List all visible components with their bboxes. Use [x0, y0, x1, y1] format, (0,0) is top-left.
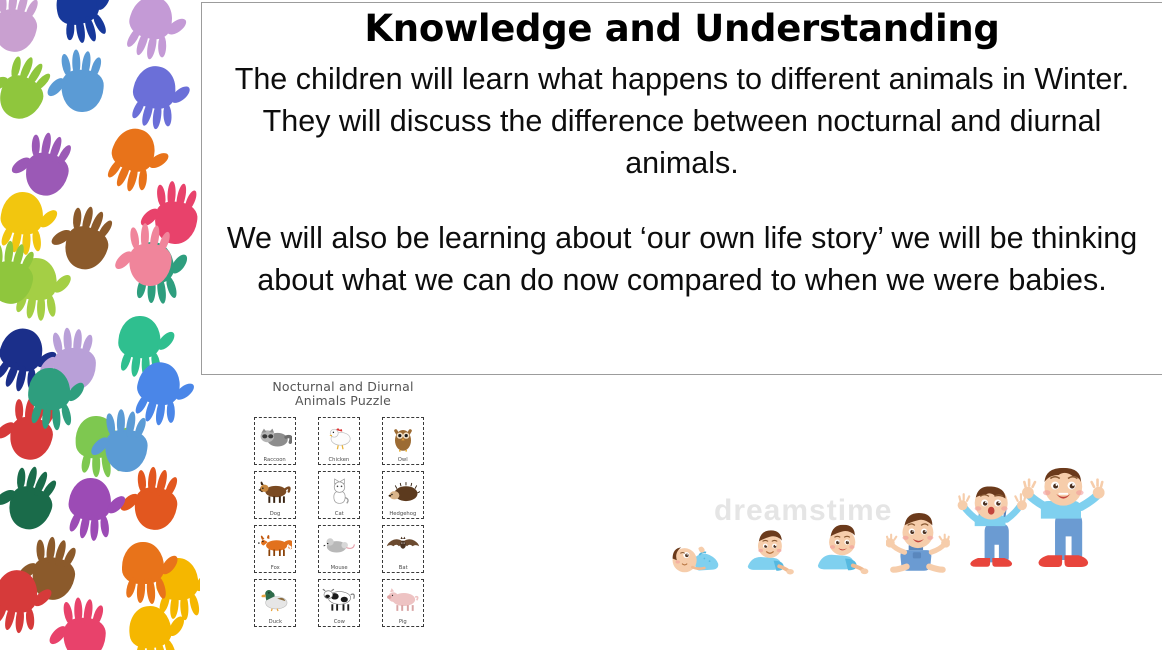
puzzle-card-grid: RaccoonChickenOwlDogCatHedgehogFoxMouseB… — [254, 417, 443, 627]
raccoon-icon — [255, 418, 295, 458]
puzzle-card-label: Owl — [398, 458, 408, 463]
puzzle-card-cat: Cat — [318, 471, 360, 519]
puzzle-card-label: Chicken — [329, 458, 350, 463]
paragraph-knowledge-winter-animals: The children will learn what happens to … — [202, 58, 1162, 184]
puzzle-card-label: Mouse — [330, 566, 347, 571]
handprint — [49, 42, 116, 120]
nocturnal-diurnal-puzzle-worksheet: Nocturnal and Diurnal Animals Puzzle Rac… — [243, 380, 443, 635]
growth-stage-crawling-baby-1 — [746, 529, 799, 580]
puzzle-card-label: Bat — [399, 566, 408, 571]
handprint — [92, 401, 161, 481]
dog-icon — [255, 472, 295, 512]
puzzle-card-chicken: Chicken — [318, 417, 360, 465]
handprint — [116, 597, 185, 650]
cat-icon — [319, 472, 359, 512]
puzzle-card-label: Dog — [270, 512, 281, 517]
puzzle-card-owl: Owl — [382, 417, 424, 465]
puzzle-card-raccoon: Raccoon — [254, 417, 296, 465]
growth-stage-lying-newborn — [670, 536, 730, 580]
puzzle-worksheet-title: Nocturnal and Diurnal Animals Puzzle — [243, 380, 443, 409]
puzzle-card-label: Cat — [335, 512, 344, 517]
puzzle-card-label: Pig — [399, 620, 407, 625]
growth-stage-walking-child — [1022, 468, 1105, 580]
puzzle-card-duck: Duck — [254, 579, 296, 627]
mouse-icon — [319, 526, 359, 566]
puzzle-card-pig: Pig — [382, 579, 424, 627]
puzzle-card-label: Raccoon — [264, 458, 286, 463]
puzzle-card-fox: Fox — [254, 525, 296, 573]
puzzle-title-line-2: Animals Puzzle — [243, 394, 443, 408]
puzzle-card-bat: Bat — [382, 525, 424, 573]
content-text-box: Knowledge and Understanding The children… — [201, 2, 1162, 375]
paragraph-life-story: We will also be learning about ‘our own … — [202, 217, 1162, 301]
bat-icon — [383, 526, 423, 566]
handprint — [17, 361, 82, 437]
chicken-icon — [319, 418, 359, 458]
puzzle-card-label: Hedgehog — [390, 512, 417, 517]
growth-stage-standing-toddler — [956, 487, 1029, 581]
puzzle-card-label: Fox — [271, 566, 280, 571]
puzzle-card-cow: Cow — [318, 579, 360, 627]
page-title: Knowledge and Understanding — [202, 3, 1162, 50]
puzzle-card-hedgehog: Hedgehog — [382, 471, 424, 519]
handprint-border-decoration — [0, 0, 200, 650]
cow-icon — [319, 580, 359, 620]
fox-icon — [255, 526, 295, 566]
growth-stage-sitting-baby — [886, 513, 950, 580]
paragraph-spacer — [202, 184, 1162, 217]
hedgehog-icon — [383, 472, 423, 512]
puzzle-title-line-1: Nocturnal and Diurnal — [243, 380, 443, 394]
puzzle-card-mouse: Mouse — [318, 525, 360, 573]
puzzle-card-label: Cow — [333, 620, 344, 625]
handprint — [116, 215, 185, 295]
owl-icon — [383, 418, 423, 458]
growth-stage-crawling-baby-2 — [816, 525, 872, 580]
duck-icon — [255, 580, 295, 620]
handprint — [51, 590, 118, 650]
handprint — [0, 559, 52, 643]
pig-icon — [383, 580, 423, 620]
puzzle-card-label: Duck — [268, 620, 281, 625]
child-growth-stages-illustration: dreamstime — [664, 462, 1084, 580]
stock-photo-watermark: dreamstime — [714, 494, 892, 528]
puzzle-card-dog: Dog — [254, 471, 296, 519]
